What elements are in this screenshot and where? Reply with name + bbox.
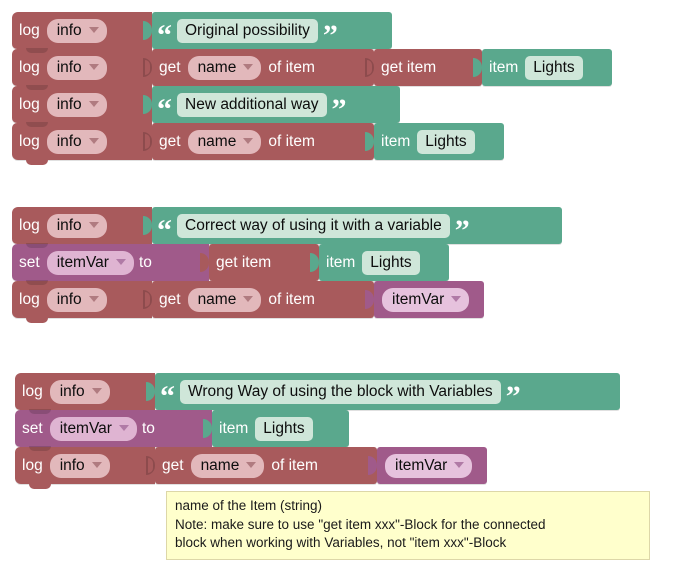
get-label: get [152,291,188,309]
of-item-label: of item [261,291,322,309]
get-label: get [155,457,191,475]
log-level-dropdown[interactable]: info [47,93,107,117]
get-label: get [152,133,188,151]
item-name-field[interactable]: Lights [362,251,419,275]
get-property-of-item-block[interactable]: get name of item [152,49,374,86]
bottom-notch [26,318,48,323]
get-property-of-item-block[interactable]: get name of item [152,123,374,160]
log-level-value: info [60,383,85,400]
chevron-down-icon [89,222,99,228]
property-dropdown[interactable]: name [188,56,262,80]
variable-value-block[interactable]: itemVar [377,447,487,484]
chevron-down-icon [454,462,464,468]
item-block[interactable]: item Lights [482,49,612,86]
chevron-down-icon [89,296,99,302]
log-level-dropdown[interactable]: info [47,19,107,43]
get-property-of-item-block[interactable]: get name of item [155,447,377,484]
log-level-dropdown[interactable]: info [50,454,110,478]
top-notch [26,48,48,53]
log-statement-block[interactable]: log info [12,49,152,86]
of-item-label: of item [261,133,322,151]
chevron-down-icon [246,462,256,468]
log-level-dropdown[interactable]: info [50,380,110,404]
item-label: item [374,133,417,151]
tooltip-line-3: block when working with Variables, not "… [175,534,641,553]
get-item-block[interactable]: get item [209,244,319,281]
variable-name-value: itemVar [392,291,444,308]
chevron-down-icon [89,27,99,33]
property-dropdown[interactable]: name [188,130,262,154]
log-level-value: info [57,96,82,113]
string-value-block[interactable]: “ New additional way ” [152,86,400,123]
bottom-notch [26,160,48,165]
log-keyword-label: log [12,96,47,114]
log-statement-block[interactable]: log info [12,86,152,123]
item-name-field[interactable]: Lights [525,56,582,80]
of-item-label: of item [264,457,325,475]
property-value: name [201,457,240,474]
string-value-block[interactable]: “ Original possibility ” [152,12,392,49]
property-dropdown[interactable]: name [191,454,265,478]
string-value-block[interactable]: “ Wrong Way of using the block with Vari… [155,373,620,410]
property-dropdown[interactable]: name [188,288,262,312]
set-keyword-label: set [12,254,47,272]
property-value: name [198,291,237,308]
chevron-down-icon [92,388,102,394]
log-statement-block[interactable]: log info [15,373,155,410]
variable-name-value: itemVar [60,420,112,437]
log-level-value: info [57,217,82,234]
top-notch [29,446,51,451]
item-name-field[interactable]: Lights [417,130,474,154]
block-tooltip: name of the Item (string) Note: make sur… [166,491,650,560]
log-level-dropdown[interactable]: info [47,56,107,80]
variable-name-dropdown[interactable]: itemVar [385,454,472,478]
of-item-label: of item [261,59,322,77]
chevron-down-icon [92,462,102,468]
item-label: item [212,420,255,438]
string-text-field[interactable]: Wrong Way of using the block with Variab… [180,380,501,404]
log-level-value: info [57,133,82,150]
top-notch [26,122,48,127]
log-level-dropdown[interactable]: info [47,288,107,312]
chevron-down-icon [116,259,126,265]
log-level-dropdown[interactable]: info [47,214,107,238]
set-keyword-label: set [15,420,50,438]
tooltip-line-1: name of the Item (string) [175,497,641,516]
chevron-down-icon [89,64,99,70]
item-block[interactable]: item Lights [374,123,504,160]
variable-name-value: itemVar [57,254,109,271]
top-notch [26,85,48,90]
variable-name-value: itemVar [395,457,447,474]
log-keyword-label: log [15,383,50,401]
variable-name-dropdown[interactable]: itemVar [47,251,134,275]
get-item-block[interactable]: get item [374,49,482,86]
item-label: item [482,59,525,77]
get-label: get [152,59,188,77]
log-statement-block[interactable]: log info [12,207,152,244]
get-item-label: get item [374,59,443,77]
chevron-down-icon [243,296,253,302]
set-variable-block[interactable]: set itemVar to [12,244,209,281]
item-name-field[interactable]: Lights [255,417,312,441]
tooltip-line-2: Note: make sure to use "get item xxx"-Bl… [175,516,641,535]
log-keyword-label: log [12,133,47,151]
variable-name-dropdown[interactable]: itemVar [50,417,137,441]
top-notch [26,243,48,248]
get-property-of-item-block[interactable]: get name of item [152,281,374,318]
log-statement-block[interactable]: log info [12,12,152,49]
log-keyword-label: log [12,291,47,309]
string-text-field[interactable]: New additional way [177,93,327,117]
log-statement-block[interactable]: log info [12,281,152,318]
chevron-down-icon [119,425,129,431]
log-level-dropdown[interactable]: info [47,130,107,154]
chevron-down-icon [243,64,253,70]
item-block[interactable]: item Lights [319,244,449,281]
log-statement-block[interactable]: log info [15,447,155,484]
top-notch [29,409,51,414]
to-label: to [137,420,160,438]
chevron-down-icon [89,138,99,144]
to-label: to [134,254,157,272]
string-text-field[interactable]: Original possibility [177,19,318,43]
get-item-label: get item [209,254,278,272]
log-keyword-label: log [12,22,47,40]
string-text-field[interactable]: Correct way of using it with a variable [177,214,450,238]
property-value: name [198,59,237,76]
log-level-value: info [57,22,82,39]
set-variable-block[interactable]: set itemVar to [15,410,212,447]
top-notch [26,280,48,285]
log-level-value: info [60,457,85,474]
chevron-down-icon [89,101,99,107]
log-level-value: info [57,59,82,76]
string-value-block[interactable]: “ Correct way of using it with a variabl… [152,207,562,244]
log-keyword-label: log [15,457,50,475]
variable-value-block[interactable]: itemVar [374,281,484,318]
bottom-notch [29,484,51,489]
log-level-value: info [57,291,82,308]
variable-name-dropdown[interactable]: itemVar [382,288,469,312]
property-value: name [198,133,237,150]
log-keyword-label: log [12,59,47,77]
item-block[interactable]: item Lights [212,410,349,447]
blockly-workspace[interactable]: log info “ Original possibility ” log in… [0,0,693,582]
item-label: item [319,254,362,272]
chevron-down-icon [451,296,461,302]
log-statement-block[interactable]: log info [12,123,152,160]
chevron-down-icon [243,138,253,144]
log-keyword-label: log [12,217,47,235]
